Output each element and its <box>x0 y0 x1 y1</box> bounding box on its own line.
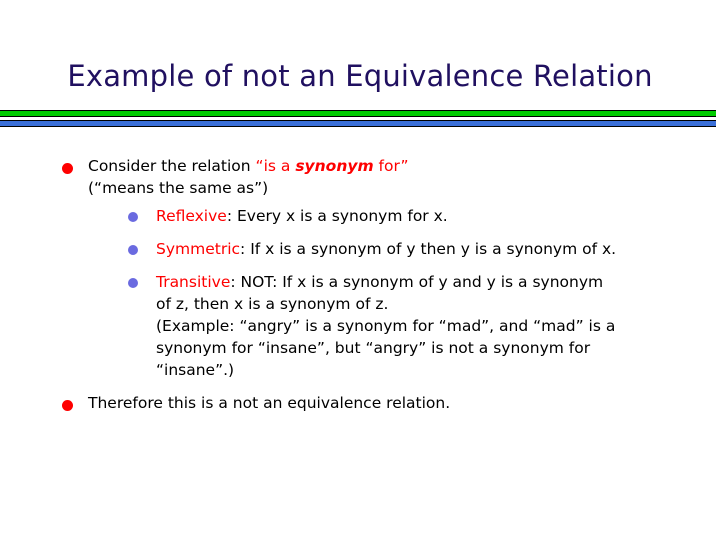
bullet-dot-icon <box>128 278 138 288</box>
sub-list: Reflexive: Every x is a synonym for x. S… <box>88 205 720 381</box>
intro-text: Consider the relation “is a synonym for”… <box>88 155 720 199</box>
reflexive-separator: : <box>227 207 237 225</box>
list-item-transitive: Transitive: NOT: If x is a synonym of y … <box>126 271 720 381</box>
intro-line-2: (“means the same as”) <box>88 177 720 199</box>
intro-quote-close: for” <box>374 157 409 175</box>
symmetric-separator: : <box>240 240 250 258</box>
transitive-line-3: (Example: “angry” is a synonym for “mad”… <box>156 315 720 337</box>
symmetric-text: Symmetric: If x is a synonym of y then y… <box>156 238 720 260</box>
title-area: Example of not an Equivalence Relation <box>0 58 720 94</box>
bullet-dot-icon <box>128 212 138 222</box>
reflexive-text: Reflexive: Every x is a synonym for x. <box>156 205 720 227</box>
list-item: Consider the relation “is a synonym for”… <box>0 155 720 381</box>
bullet-dot-icon <box>62 400 73 411</box>
bullet-dot-icon <box>62 163 73 174</box>
reflexive-keyword: Reflexive <box>156 207 227 225</box>
intro-lead: Consider the relation <box>88 157 256 175</box>
divider-blue-bar <box>0 120 716 127</box>
intro-quote-emphasis: synonym <box>295 157 373 175</box>
bullet-dot-icon <box>128 245 138 255</box>
divider <box>0 110 716 127</box>
intro-quote-open: “is a <box>256 157 296 175</box>
slide-canvas: Example of not an Equivalence Relation C… <box>0 0 720 540</box>
list-item-reflexive: Reflexive: Every x is a synonym for x. <box>126 205 720 227</box>
transitive-line-5: “insane”.) <box>156 359 720 381</box>
transitive-separator: : <box>230 273 240 291</box>
divider-green-bar <box>0 110 716 117</box>
transitive-line-2: of z, then x is a synonym of z. <box>156 293 720 315</box>
transitive-line-4: synonym for “insane”, but “angry” is not… <box>156 337 720 359</box>
conclusion-text: Therefore this is a not an equivalence r… <box>88 392 720 414</box>
transitive-keyword: Transitive <box>156 273 230 291</box>
transitive-text: Transitive: NOT: If x is a synonym of y … <box>156 271 720 381</box>
transitive-body: NOT: If x is a synonym of y and y is a s… <box>241 273 604 291</box>
list-item-symmetric: Symmetric: If x is a synonym of y then y… <box>126 238 720 260</box>
symmetric-keyword: Symmetric <box>156 240 240 258</box>
body-content: Consider the relation “is a synonym for”… <box>0 155 720 414</box>
list-item-conclusion: Therefore this is a not an equivalence r… <box>0 392 720 414</box>
page-title: Example of not an Equivalence Relation <box>0 58 720 94</box>
reflexive-body: Every x is a synonym for x. <box>237 207 448 225</box>
symmetric-body: If x is a synonym of y then y is a synon… <box>250 240 616 258</box>
